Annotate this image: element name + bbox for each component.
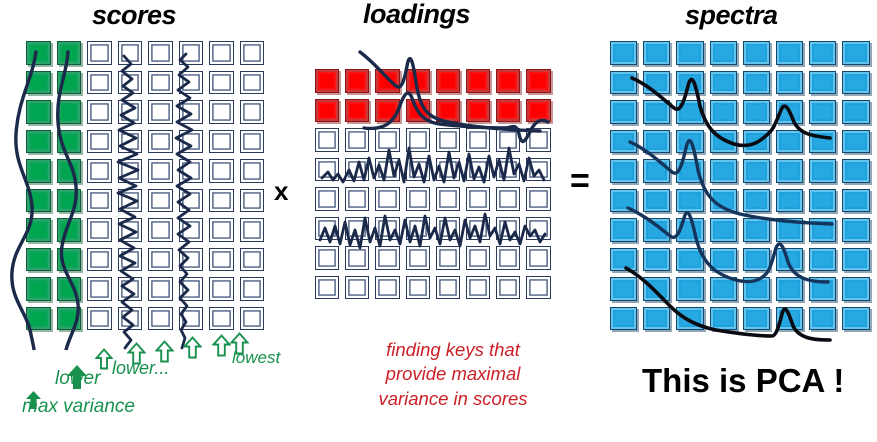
spectra-cell	[709, 158, 742, 188]
loadings-caption-line-1: finding keys that	[358, 338, 548, 362]
spectra-cell	[709, 217, 742, 247]
loadings-cell-square	[436, 187, 460, 211]
spectra-cell-square	[710, 41, 737, 65]
spectra-cell	[808, 40, 841, 70]
scores-cell	[147, 158, 178, 188]
spectra-cell	[609, 188, 642, 218]
scores-cell-square	[87, 307, 112, 331]
spectra-cell-square	[676, 130, 703, 154]
spectra-cell-square	[710, 100, 737, 124]
scores-cell	[56, 247, 87, 277]
loadings-cell-square	[375, 158, 399, 182]
scores-cell-square	[209, 41, 234, 65]
scores-cell-square	[118, 248, 143, 272]
spectra-cell-square	[710, 159, 737, 183]
loadings-cell-square	[466, 187, 490, 211]
spectra-cell-square	[743, 248, 770, 272]
scores-cell	[56, 188, 87, 218]
spectra-cell	[675, 70, 708, 100]
spectra-cell-square	[643, 218, 670, 242]
spectra-cell	[642, 217, 675, 247]
spectra-cell	[808, 188, 841, 218]
spectra-cell	[808, 129, 841, 159]
loadings-cell-square	[375, 128, 399, 152]
scores-cell	[239, 217, 270, 247]
loadings-cell	[374, 275, 404, 305]
scores-cell	[208, 99, 239, 129]
spectra-cell-square	[809, 100, 836, 124]
scores-cell	[86, 70, 117, 100]
loadings-cell	[465, 245, 495, 275]
spectra-cell-square	[743, 189, 770, 213]
scores-cell-square	[179, 307, 204, 331]
spectra-cell	[742, 306, 775, 336]
scores-cell	[25, 306, 56, 336]
spectra-cell	[709, 188, 742, 218]
loadings-cell	[465, 98, 495, 128]
spectra-cell-square	[643, 189, 670, 213]
spectra-cell	[642, 306, 675, 336]
spectra-cell-square	[842, 100, 869, 124]
spectra-cell-square	[776, 277, 803, 301]
spectra-cell	[841, 70, 874, 100]
spectra-cell-square	[610, 100, 637, 124]
scores-cell-square	[209, 307, 234, 331]
loadings-cell-square	[526, 99, 550, 123]
loadings-cell	[374, 245, 404, 275]
scores-cell-square	[179, 41, 204, 65]
scores-cell	[178, 99, 209, 129]
spectra-cell	[742, 188, 775, 218]
spectra-cell	[775, 247, 808, 277]
scores-cell	[147, 40, 178, 70]
spectra-cell-square	[710, 307, 737, 331]
scores-cell-square	[240, 277, 265, 301]
spectra-cell-square	[809, 159, 836, 183]
loadings-cell	[495, 186, 525, 216]
loadings-cell-square	[406, 246, 430, 270]
scores-cell-square	[179, 71, 204, 95]
loadings-cell-square	[345, 69, 369, 93]
scores-cell-square	[240, 189, 265, 213]
scores-cell-square	[118, 159, 143, 183]
loadings-caption: finding keys that provide maximal varian…	[358, 338, 548, 411]
scores-cell	[239, 129, 270, 159]
scores-cell-square	[179, 159, 204, 183]
scores-cell-square	[209, 277, 234, 301]
spectra-cell	[609, 306, 642, 336]
loadings-cell-square	[466, 128, 490, 152]
loadings-cell	[405, 275, 435, 305]
scores-cell	[86, 158, 117, 188]
loadings-cell	[344, 186, 374, 216]
spectra-cell	[742, 217, 775, 247]
scores-cell-square	[26, 277, 51, 301]
loadings-cell	[495, 245, 525, 275]
spectra-cell-square	[842, 41, 869, 65]
spectra-cell-square	[643, 71, 670, 95]
spectra-cell	[642, 99, 675, 129]
spectra-cell	[808, 306, 841, 336]
title-scores: scores	[92, 0, 176, 31]
scores-cell	[239, 99, 270, 129]
spectra-cell-square	[809, 218, 836, 242]
spectra-cell-square	[676, 159, 703, 183]
spectra-cell	[775, 40, 808, 70]
scores-cell	[86, 276, 117, 306]
scores-cell-square	[87, 248, 112, 272]
loadings-cell	[344, 245, 374, 275]
scores-cell	[147, 129, 178, 159]
scores-cell-square	[87, 100, 112, 124]
spectra-cell-square	[842, 159, 869, 183]
scores-cell-square	[118, 277, 143, 301]
spectra-cell-square	[776, 71, 803, 95]
spectra-cell-square	[676, 41, 703, 65]
spectra-cell-square	[743, 218, 770, 242]
scores-cell-square	[118, 218, 143, 242]
loadings-cell	[435, 216, 465, 246]
loadings-cell	[435, 127, 465, 157]
scores-cell-square	[148, 41, 173, 65]
spectra-cell-square	[643, 41, 670, 65]
scores-cell	[147, 247, 178, 277]
scores-cell	[208, 70, 239, 100]
scores-cell-square	[179, 130, 204, 154]
loadings-cell	[314, 127, 344, 157]
spectra-cell	[841, 247, 874, 277]
spectra-cell-square	[743, 159, 770, 183]
loadings-cell	[374, 68, 404, 98]
scores-cell-square	[118, 189, 143, 213]
spectra-cell-square	[676, 189, 703, 213]
loadings-cell-square	[406, 69, 430, 93]
spectra-cell-square	[610, 277, 637, 301]
spectra-cell-square	[676, 277, 703, 301]
scores-cell-square	[240, 41, 265, 65]
spectra-cell-square	[643, 159, 670, 183]
spectra-cell-square	[610, 71, 637, 95]
loadings-cell-square	[526, 246, 550, 270]
scores-cell	[208, 129, 239, 159]
spectra-cell	[841, 129, 874, 159]
spectra-cell	[841, 158, 874, 188]
spectra-cell-square	[610, 218, 637, 242]
loadings-cell	[314, 157, 344, 187]
loadings-cell-square	[466, 158, 490, 182]
spectra-cell-square	[610, 159, 637, 183]
loadings-cell	[525, 68, 555, 98]
loadings-cell	[435, 68, 465, 98]
spectra-cell-square	[842, 248, 869, 272]
scores-cell	[147, 70, 178, 100]
spectra-cell-square	[809, 277, 836, 301]
spectra-cell-square	[676, 248, 703, 272]
loadings-cell	[465, 216, 495, 246]
loadings-cell-square	[345, 99, 369, 123]
spectra-cell-square	[710, 248, 737, 272]
spectra-cell-square	[710, 189, 737, 213]
loadings-cell	[525, 98, 555, 128]
scores-cell-square	[148, 277, 173, 301]
loadings-cell	[314, 68, 344, 98]
loadings-cell-square	[526, 276, 550, 300]
spectra-cell	[709, 40, 742, 70]
spectra-cell	[675, 129, 708, 159]
loadings-cell	[495, 68, 525, 98]
loadings-cell-square	[436, 217, 460, 241]
scores-cell-square	[240, 159, 265, 183]
scores-cell	[86, 217, 117, 247]
loadings-cell-square	[345, 217, 369, 241]
spectra-cell	[675, 306, 708, 336]
spectra-cell-square	[743, 100, 770, 124]
scores-cell-square	[240, 218, 265, 242]
multiply-operator: x	[274, 176, 288, 207]
spectra-cell	[709, 247, 742, 277]
scores-cell	[208, 276, 239, 306]
spectra-cell	[808, 217, 841, 247]
spectra-cell	[675, 158, 708, 188]
scores-cell-square	[209, 218, 234, 242]
loadings-cell	[314, 245, 344, 275]
scores-cell-square	[57, 218, 82, 242]
spectra-cell-square	[710, 130, 737, 154]
conclusion-text: This is PCA !	[642, 362, 844, 400]
scores-cell	[178, 276, 209, 306]
scores-cell-square	[118, 100, 143, 124]
spectra-cell-square	[743, 71, 770, 95]
spectra-cell	[841, 188, 874, 218]
loadings-cell-square	[406, 99, 430, 123]
loadings-cell	[314, 98, 344, 128]
spectra-cell	[742, 276, 775, 306]
loadings-cell-square	[466, 246, 490, 270]
spectra-cell-square	[776, 100, 803, 124]
loadings-cell	[525, 186, 555, 216]
loadings-cell	[495, 157, 525, 187]
loadings-cell-square	[436, 99, 460, 123]
scores-cell-square	[240, 307, 265, 331]
scores-cell	[25, 276, 56, 306]
loadings-cell	[405, 186, 435, 216]
scores-cell	[147, 217, 178, 247]
spectra-cell	[775, 158, 808, 188]
scores-cell-square	[26, 71, 51, 95]
scores-cell	[147, 276, 178, 306]
scores-cell-square	[87, 277, 112, 301]
loadings-cell	[344, 157, 374, 187]
scores-cell	[56, 40, 87, 70]
scores-cell	[86, 306, 117, 336]
loadings-cell-square	[345, 187, 369, 211]
loadings-cell-square	[526, 187, 550, 211]
spectra-cell	[709, 306, 742, 336]
scores-cell-square	[87, 159, 112, 183]
scores-cell	[117, 188, 148, 218]
scores-cell	[147, 188, 178, 218]
spectra-cell-square	[743, 307, 770, 331]
spectra-cell	[642, 129, 675, 159]
loadings-cell-square	[466, 99, 490, 123]
spectra-cell	[841, 40, 874, 70]
spectra-cell	[841, 99, 874, 129]
loadings-cell-square	[406, 217, 430, 241]
spectra-cell	[642, 158, 675, 188]
loadings-matrix	[314, 68, 556, 304]
scores-cell-square	[118, 130, 143, 154]
spectra-cell	[642, 247, 675, 277]
scores-cell	[86, 40, 117, 70]
scores-cell	[25, 247, 56, 277]
loadings-cell	[495, 98, 525, 128]
scores-cell	[208, 158, 239, 188]
variance-arrow-7-outline	[212, 334, 231, 362]
loadings-cell-square	[496, 187, 520, 211]
variance-arrow-6-outline	[183, 336, 202, 364]
spectra-cell	[775, 70, 808, 100]
loadings-cell-square	[375, 276, 399, 300]
scores-cell	[25, 70, 56, 100]
spectra-cell	[609, 247, 642, 277]
loadings-cell-square	[496, 158, 520, 182]
spectra-cell-square	[776, 307, 803, 331]
spectra-cell	[609, 158, 642, 188]
scores-cell-square	[209, 71, 234, 95]
spectra-cell	[675, 276, 708, 306]
scores-cell-square	[179, 218, 204, 242]
loadings-cell-square	[345, 246, 369, 270]
scores-cell	[25, 217, 56, 247]
scores-cell-square	[148, 218, 173, 242]
loadings-cell	[405, 216, 435, 246]
scores-matrix	[25, 40, 269, 335]
loadings-cell	[344, 68, 374, 98]
loadings-cell-square	[466, 69, 490, 93]
spectra-cell	[709, 99, 742, 129]
spectra-cell-square	[776, 159, 803, 183]
loadings-cell-square	[315, 99, 339, 123]
scores-cell	[239, 70, 270, 100]
spectra-cell	[841, 217, 874, 247]
spectra-cell-square	[676, 307, 703, 331]
loadings-cell	[374, 98, 404, 128]
loadings-cell-square	[315, 187, 339, 211]
spectra-cell-square	[643, 277, 670, 301]
spectra-cell	[609, 99, 642, 129]
scores-cell	[25, 99, 56, 129]
loadings-cell	[374, 216, 404, 246]
spectra-matrix	[609, 40, 875, 335]
scores-cell	[239, 276, 270, 306]
spectra-cell-square	[710, 277, 737, 301]
loadings-caption-line-2: provide maximal	[358, 362, 548, 386]
loadings-cell-square	[496, 99, 520, 123]
scores-cell-square	[148, 71, 173, 95]
spectra-cell-square	[610, 130, 637, 154]
loadings-cell-square	[406, 158, 430, 182]
loadings-cell-square	[375, 217, 399, 241]
scores-cell	[56, 129, 87, 159]
loadings-cell-square	[315, 69, 339, 93]
scores-cell-square	[26, 218, 51, 242]
loadings-cell	[495, 127, 525, 157]
scores-cell	[25, 188, 56, 218]
loadings-cell-square	[526, 128, 550, 152]
spectra-cell-square	[809, 307, 836, 331]
scores-cell-square	[26, 100, 51, 124]
spectra-cell-square	[743, 41, 770, 65]
scores-cell-square	[148, 307, 173, 331]
spectra-cell-square	[842, 71, 869, 95]
scores-cell-square	[87, 41, 112, 65]
spectra-cell	[775, 99, 808, 129]
spectra-cell	[808, 247, 841, 277]
spectra-cell	[675, 247, 708, 277]
equals-operator: =	[570, 168, 590, 194]
spectra-cell	[742, 99, 775, 129]
loadings-cell	[435, 157, 465, 187]
spectra-cell	[775, 276, 808, 306]
scores-cell	[117, 276, 148, 306]
scores-cell-square	[179, 248, 204, 272]
loadings-cell	[344, 275, 374, 305]
loadings-cell-square	[406, 187, 430, 211]
loadings-cell-square	[345, 276, 369, 300]
loadings-cell-square	[315, 158, 339, 182]
loadings-cell-square	[345, 128, 369, 152]
scores-cell-square	[240, 248, 265, 272]
spectra-cell-square	[743, 277, 770, 301]
loadings-cell-square	[345, 158, 369, 182]
loadings-cell	[405, 98, 435, 128]
title-loadings: loadings	[363, 0, 470, 30]
spectra-cell	[609, 70, 642, 100]
scores-cell	[117, 129, 148, 159]
scores-cell-square	[57, 277, 82, 301]
scores-cell-square	[209, 248, 234, 272]
scores-cell-square	[148, 130, 173, 154]
loadings-cell	[525, 275, 555, 305]
loadings-cell	[465, 68, 495, 98]
loadings-cell	[405, 127, 435, 157]
scores-cell-square	[57, 71, 82, 95]
spectra-cell-square	[643, 130, 670, 154]
loadings-cell	[374, 127, 404, 157]
loadings-cell-square	[436, 69, 460, 93]
loadings-cell-square	[375, 69, 399, 93]
scores-cell-square	[179, 100, 204, 124]
loadings-cell	[405, 68, 435, 98]
loadings-cell-square	[526, 69, 550, 93]
spectra-cell	[642, 276, 675, 306]
loadings-cell	[495, 216, 525, 246]
scores-cell-square	[57, 159, 82, 183]
loadings-cell-square	[375, 99, 399, 123]
spectra-cell	[775, 129, 808, 159]
loadings-cell	[344, 216, 374, 246]
loadings-caption-line-3: variance in scores	[358, 387, 548, 411]
loadings-cell-square	[466, 217, 490, 241]
scores-cell	[178, 247, 209, 277]
scores-cell-square	[57, 100, 82, 124]
scores-cell-square	[57, 248, 82, 272]
scores-cell	[25, 158, 56, 188]
scores-cell	[25, 129, 56, 159]
loadings-cell-square	[315, 128, 339, 152]
scores-cell	[178, 306, 209, 336]
scores-cell	[239, 158, 270, 188]
